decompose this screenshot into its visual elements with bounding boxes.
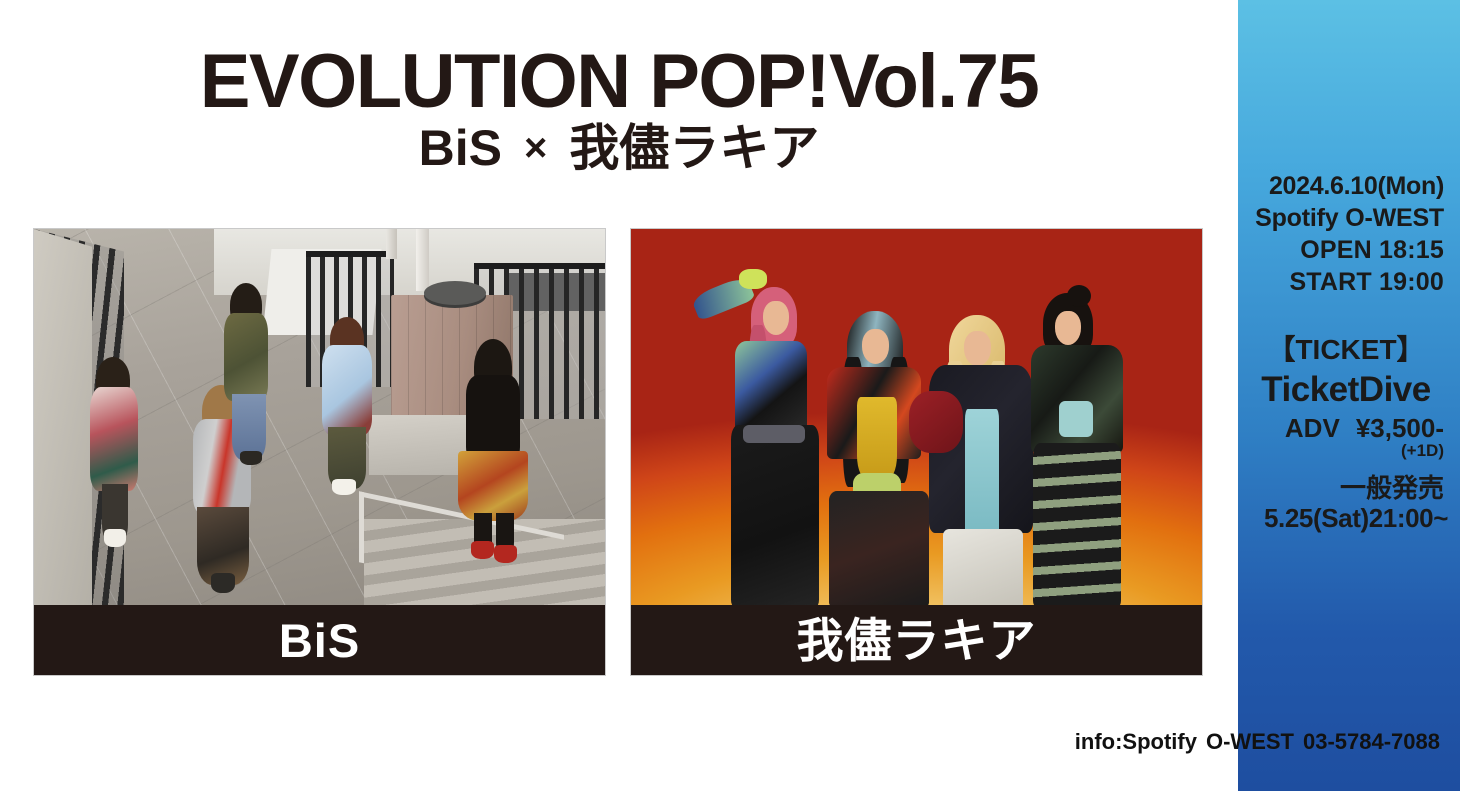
artist-name-bar-bis: BiS	[34, 605, 605, 675]
event-open-time: OPEN 18:15	[1248, 234, 1444, 266]
subtitle-separator-icon: ×	[502, 126, 569, 170]
contact-venue: O-WEST	[1206, 729, 1294, 754]
event-schedule-block: 2024.6.10(Mon) Spotify O-WEST OPEN 18:15…	[1248, 170, 1444, 298]
artist-photo-rakia	[631, 229, 1202, 607]
utility-box-lid	[424, 281, 486, 305]
walkway-curb	[34, 229, 92, 607]
event-flyer: EVOLUTION POP!Vol.75 BiS×我儘ラキア	[0, 0, 1460, 791]
artist-name-bar-rakia: 我儘ラキア	[631, 605, 1202, 675]
contact-phone: 03-5784-7088	[1303, 729, 1440, 754]
general-sale-date: 5.25(Sat)21:00~	[1240, 502, 1448, 535]
rooftop-scene-background	[34, 229, 605, 607]
ticket-vendor[interactable]: TicketDive	[1248, 368, 1444, 413]
artist-card-bis: BiS	[33, 228, 606, 676]
advance-price: ¥3,500-	[1356, 413, 1444, 443]
vent-pipe-large	[416, 229, 429, 291]
advance-label: ADV	[1285, 413, 1340, 443]
artist-photo-bis	[34, 229, 605, 607]
subtitle-artist-1: BiS	[419, 120, 502, 176]
event-venue: Spotify O-WEST	[1248, 202, 1444, 234]
artist-card-rakia: 我儘ラキア	[630, 228, 1203, 676]
artist-name-rakia: 我儘ラキア	[797, 617, 1037, 664]
page-title: EVOLUTION POP!Vol.75	[0, 44, 1238, 120]
vent-pipe-small	[386, 229, 397, 259]
artist-name-bis: BiS	[279, 617, 360, 664]
subtitle-lineup: BiS×我儘ラキア	[0, 122, 1238, 175]
drink-surcharge-note: (+1D)	[1248, 440, 1444, 462]
subtitle-artist-2: 我儘ラキア	[569, 120, 819, 176]
contact-prefix: info:Spotify	[1075, 729, 1197, 754]
general-sale-label: 一般発売	[1248, 472, 1444, 505]
event-start-time: START 19:00	[1248, 266, 1444, 298]
event-date: 2024.6.10(Mon)	[1248, 170, 1444, 202]
contact-info-line: info:SpotifyO-WEST03-5784-7088	[0, 729, 1440, 755]
ticket-section-label: 【TICKET】	[1248, 332, 1444, 368]
orange-gradient-background	[631, 229, 1202, 607]
